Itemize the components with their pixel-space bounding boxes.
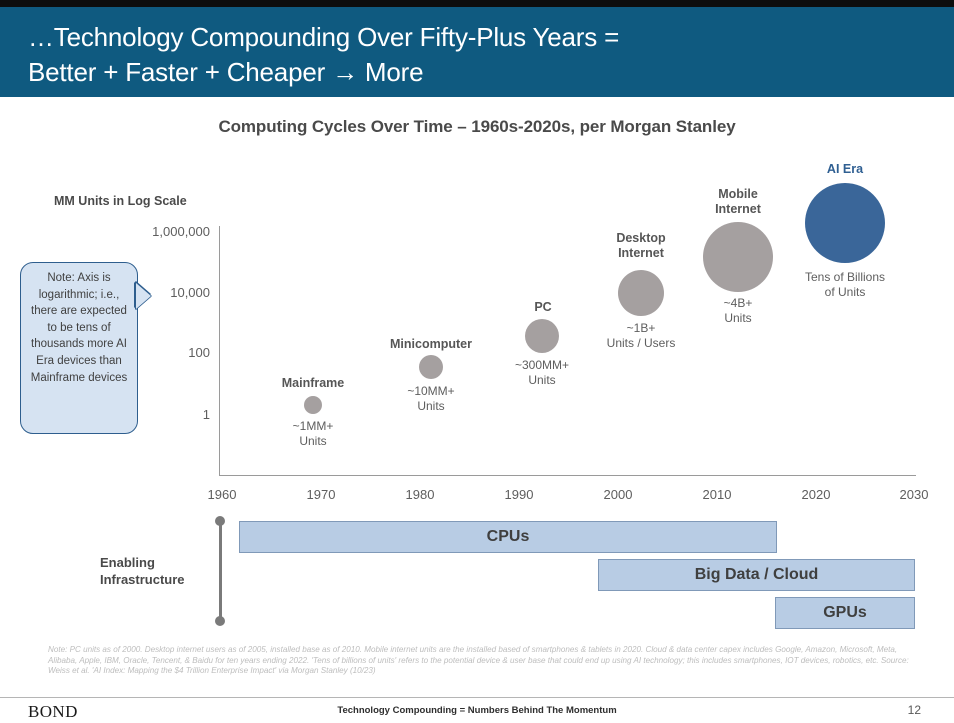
- x-tick-1960: 1960: [187, 487, 257, 502]
- footnote: Note: PC units as of 2000. Desktop inter…: [48, 645, 924, 677]
- bubble-minicomputer[interactable]: [419, 355, 443, 379]
- bracket-dot-top: [215, 516, 225, 526]
- bubble-value-mainframe: ~1MM+ Units: [238, 419, 388, 449]
- y-tick-100: 100: [120, 345, 210, 360]
- enabling-infrastructure-bracket: [219, 521, 222, 621]
- infra-bar-gpus[interactable]: GPUs: [775, 597, 915, 629]
- bubble-value-minicomputer: ~10MM+ Units: [356, 384, 506, 414]
- page-number: 12: [908, 703, 921, 717]
- x-tick-1970: 1970: [286, 487, 356, 502]
- y-tick-10000: 10,000: [120, 285, 210, 300]
- infra-bar-big-data-cloud-label: Big Data / Cloud: [695, 566, 819, 584]
- x-tick-1990: 1990: [484, 487, 554, 502]
- infra-bar-cpus-label: CPUs: [487, 528, 530, 546]
- chart-title: Computing Cycles Over Time – 1960s-2020s…: [0, 117, 954, 137]
- infra-bar-cpus[interactable]: CPUs: [239, 521, 777, 553]
- bubble-label-pc: PC: [473, 300, 613, 315]
- bubble-label-mobile-internet: Mobile Internet: [668, 187, 808, 217]
- footer-divider: [0, 697, 954, 698]
- y-tick-1: 1: [120, 407, 210, 422]
- page-title: …Technology Compounding Over Fifty-Plus …: [28, 20, 908, 90]
- bubble-value-mobile-internet: ~4B+ Units: [663, 296, 813, 326]
- x-tick-2020: 2020: [781, 487, 851, 502]
- bubble-value-ai-era: Tens of Billions of Units: [770, 270, 920, 300]
- x-tick-1980: 1980: [385, 487, 455, 502]
- footer-caption: Technology Compounding = Numbers Behind …: [0, 705, 954, 716]
- infra-bar-big-data-cloud[interactable]: Big Data / Cloud: [598, 559, 915, 591]
- x-tick-2010: 2010: [682, 487, 752, 502]
- slide-root: …Technology Compounding Over Fifty-Plus …: [0, 0, 954, 723]
- x-tick-2000: 2000: [583, 487, 653, 502]
- bubble-mainframe[interactable]: [304, 396, 322, 414]
- y-axis-caption: MM Units in Log Scale: [54, 194, 187, 208]
- x-tick-2030: 2030: [879, 487, 949, 502]
- bubble-ai-era[interactable]: [805, 183, 885, 263]
- infra-bar-gpus-label: GPUs: [823, 604, 867, 622]
- slide-title-banner: …Technology Compounding Over Fifty-Plus …: [0, 7, 954, 97]
- enabling-infrastructure-label: Enabling Infrastructure: [100, 554, 210, 588]
- bubble-desktop-internet[interactable]: [618, 270, 664, 316]
- top-black-strip: [0, 0, 954, 7]
- bubble-mobile-internet[interactable]: [703, 222, 773, 292]
- bubble-label-minicomputer: Minicomputer: [361, 337, 501, 352]
- callout-text: Note: Axis is logarithmic; i.e., there a…: [31, 272, 128, 384]
- bracket-dot-bottom: [215, 616, 225, 626]
- x-axis-line: [219, 475, 916, 476]
- bubble-value-pc: ~300MM+ Units: [467, 358, 617, 388]
- bubble-label-ai-era: AI Era: [775, 162, 915, 177]
- bubble-label-desktop-internet: Desktop Internet: [571, 231, 711, 261]
- bubble-pc[interactable]: [525, 319, 559, 353]
- y-tick-1000000: 1,000,000: [120, 224, 210, 239]
- y-axis-line: [219, 226, 220, 475]
